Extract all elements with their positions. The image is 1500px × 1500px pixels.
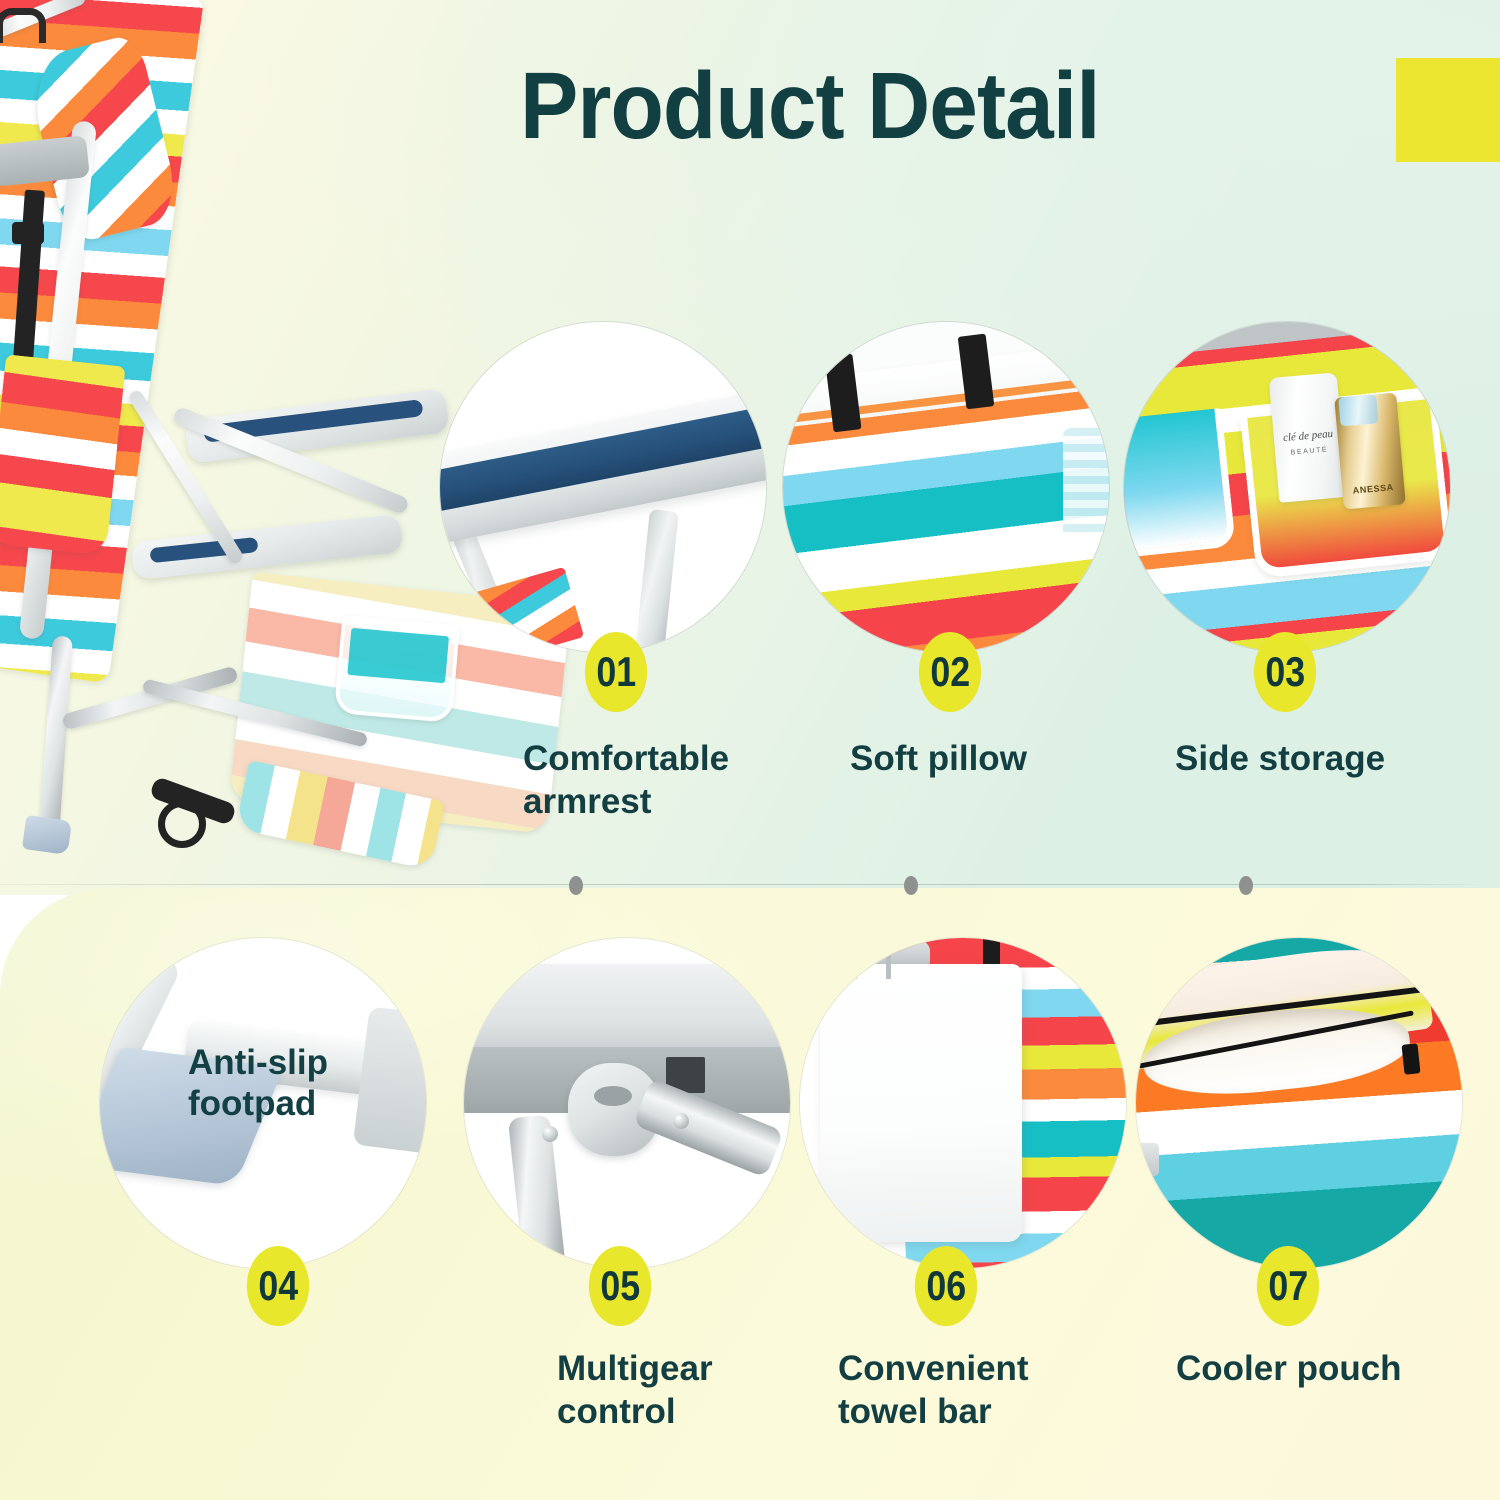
circle-02-mesh-side (1063, 428, 1109, 540)
feature-circle-03: clé de peau BEAUTÉ ANESSA (1124, 322, 1450, 652)
divider-dot-3 (1239, 876, 1253, 895)
feature-label-04: Anti-slip footpad (188, 1042, 468, 1125)
section-divider (0, 884, 1480, 885)
circle-03-product-sunscreen: ANESSA (1334, 392, 1405, 509)
chair-foot-cap (22, 815, 72, 855)
circle-06-white-towel (820, 964, 1022, 1241)
feature-badge-07-number: 07 (1268, 1262, 1308, 1310)
circle-07-frame-clip (1136, 1143, 1159, 1176)
cleanser-brand-line-1: clé de peau (1273, 427, 1342, 445)
circle-03-pocket-left (1124, 408, 1236, 559)
feature-badge-06: 06 (915, 1246, 977, 1326)
feature-badge-06-number: 06 (926, 1262, 966, 1310)
chair-top-hook (0, 8, 46, 43)
cleanser-brand-line-2: BEAUTÉ (1275, 444, 1344, 457)
chair-armrest-lower-pad (149, 537, 258, 563)
circle-03-product-cleanser: clé de peau BEAUTÉ (1269, 372, 1348, 503)
title-accent-square (1396, 58, 1500, 162)
feature-label-01: Comfortable armrest (523, 738, 843, 823)
chair-side-pocket (0, 354, 126, 556)
feature-badge-05-number: 05 (600, 1262, 640, 1310)
feature-badge-04-number: 04 (258, 1262, 298, 1310)
feature-badge-02: 02 (919, 632, 981, 712)
feature-badge-05: 05 (589, 1246, 651, 1326)
feature-circle-07 (1136, 938, 1462, 1268)
feature-badge-04: 04 (247, 1246, 309, 1326)
feature-label-03: Side storage (1175, 738, 1495, 781)
feature-badge-07: 07 (1257, 1246, 1319, 1326)
feature-circle-02 (783, 322, 1109, 652)
circle-06-bar-hook (852, 938, 891, 979)
chair-armrest-lower (131, 514, 403, 580)
feature-badge-01: 01 (585, 632, 647, 712)
circle-05-rivet-right (673, 1113, 689, 1129)
mesh-pocket-insert (347, 628, 449, 683)
feature-badge-02-number: 02 (930, 648, 970, 696)
divider-dot-2 (904, 876, 918, 895)
feature-label-02: Soft pillow (850, 738, 1170, 781)
product-detail-infographic: Product Detail (0, 0, 1500, 1500)
page-title: Product Detail (520, 46, 1348, 166)
feature-badge-01-number: 01 (596, 648, 636, 696)
feature-label-07: Cooler pouch (1176, 1348, 1496, 1391)
feature-label-06: Convenient towel bar (838, 1348, 1158, 1433)
feature-label-05: Multigear control (557, 1348, 857, 1433)
divider-dot-1 (569, 876, 583, 895)
feature-badge-03: 03 (1254, 632, 1316, 712)
feature-circle-05 (464, 938, 790, 1268)
feature-badge-03-number: 03 (1265, 648, 1305, 696)
sunscreen-brand: ANESSA (1342, 481, 1405, 496)
chair-carry-strap-ring (158, 800, 206, 848)
sunscreen-cap (1338, 394, 1379, 426)
chair-strap-buckle (12, 222, 44, 244)
feature-circle-06 (800, 938, 1126, 1268)
feature-circle-01 (440, 322, 766, 652)
side-pocket-stripe-pattern (0, 354, 126, 556)
